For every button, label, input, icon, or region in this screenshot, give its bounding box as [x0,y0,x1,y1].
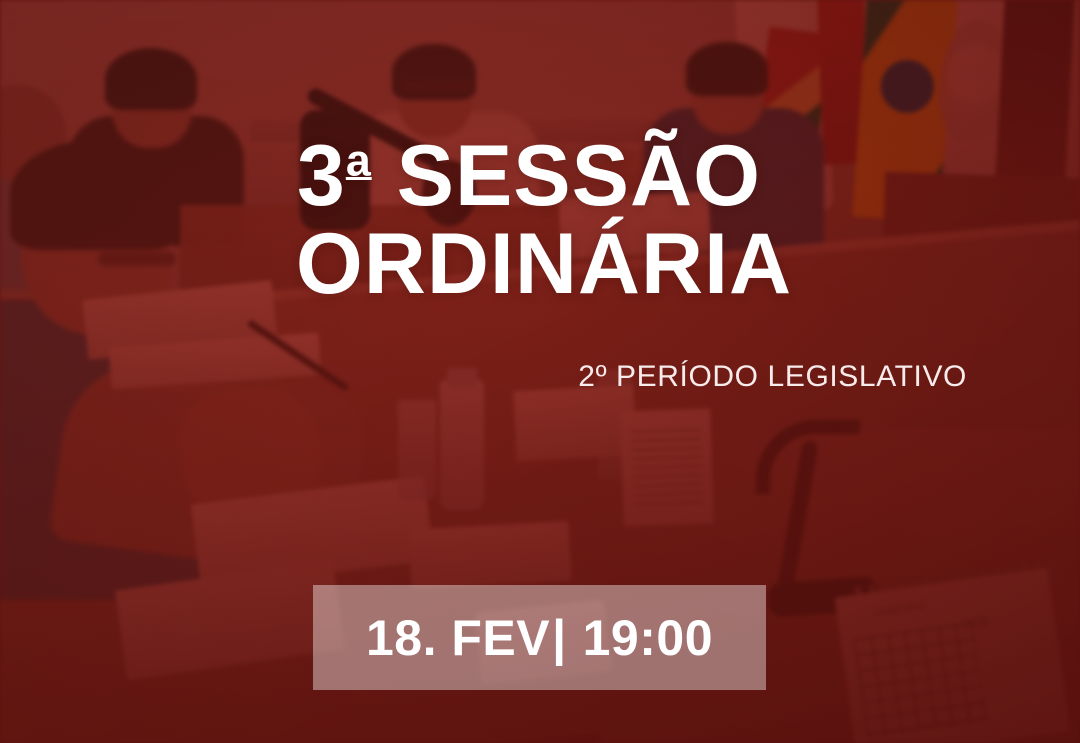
title-word-sessao: SESSÃO [372,128,761,224]
title-line-1: 3a SESSÃO [0,133,1080,221]
title-line-2: ORDINÁRIA [0,221,1080,309]
date-time-separator: | [552,609,567,667]
legislative-period-subtitle: 2º PERÍODO LEGISLATIVO [578,360,967,394]
event-date: 18. FEV [366,609,550,667]
session-number: 3 [297,128,346,224]
event-time: 19:00 [583,609,713,667]
poster-content: 3a SESSÃO ORDINÁRIA 2º PERÍODO LEGISLATI… [0,0,1080,743]
session-poster: JANEIRO 2026 3a SESSÃO ORDINÁRIA 2º PERÍ… [0,0,1080,743]
poster-title: 3a SESSÃO ORDINÁRIA [0,133,1080,308]
date-time-text: 18. FEV | 19:00 [366,609,713,667]
ordinal-indicator: a [346,136,372,185]
date-time-bar: 18. FEV | 19:00 [313,585,766,690]
